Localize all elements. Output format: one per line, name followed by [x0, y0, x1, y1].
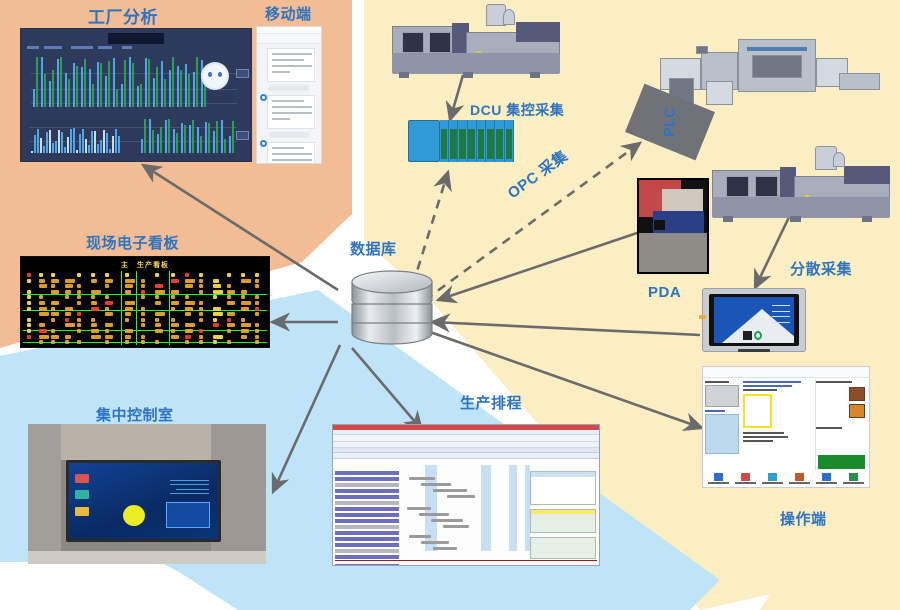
- mobile-divider-pill: [269, 132, 309, 138]
- led-cell: [105, 279, 113, 283]
- led-cell: [241, 335, 247, 339]
- led-cell: [105, 340, 109, 344]
- worker-photo: [849, 387, 865, 401]
- led-cell: [65, 284, 73, 288]
- dashboard-legend-top: [236, 69, 249, 78]
- led-cell: [39, 273, 43, 277]
- led-cell: [77, 323, 81, 327]
- led-cell: [51, 279, 59, 283]
- led-cell: [65, 295, 69, 299]
- led-cell: [155, 301, 161, 305]
- assembly-line[interactable]: [655, 28, 885, 108]
- led-cell: [171, 323, 179, 327]
- injection-machine-top[interactable]: [392, 8, 560, 78]
- dcu-cpu-module: [408, 120, 440, 162]
- led-cell: [185, 335, 191, 339]
- led-cell: [65, 318, 69, 322]
- led-cell: [105, 295, 109, 299]
- led-cell: [227, 295, 231, 299]
- led-cell: [91, 335, 101, 339]
- led-cell: [213, 312, 223, 316]
- mobile-avatar: [260, 140, 267, 147]
- led-cell: [51, 312, 59, 316]
- led-cell: [213, 340, 217, 344]
- led-cell: [51, 307, 55, 311]
- led-cell: [125, 340, 129, 344]
- led-cell: [155, 318, 159, 322]
- kpi-card-yellow: [75, 507, 89, 516]
- led-cell: [125, 273, 129, 277]
- mobile-divider-pill: [269, 85, 309, 91]
- led-cell: [155, 312, 165, 316]
- led-cell: [213, 323, 219, 327]
- led-cell: [27, 329, 31, 333]
- pda-photo[interactable]: [637, 178, 709, 274]
- gantt-right-notes[interactable]: [530, 537, 596, 559]
- worker-photo: [849, 404, 865, 418]
- led-cell: [65, 290, 71, 294]
- led-cell: [91, 301, 97, 305]
- led-cell: [105, 312, 113, 316]
- action-button: [840, 472, 867, 486]
- mobile-nav-bar: [257, 34, 321, 44]
- led-cell: [51, 329, 55, 333]
- led-cell: [51, 290, 59, 294]
- led-cell: [91, 290, 101, 294]
- led-cell: [227, 318, 231, 322]
- led-cell: [125, 307, 133, 311]
- led-cell: [141, 279, 145, 283]
- led-cell: [65, 335, 71, 339]
- led-board-title: 主 生产看板: [121, 260, 169, 270]
- led-cell: [185, 301, 195, 305]
- led-cell: [91, 329, 99, 333]
- led-cell: [241, 279, 251, 283]
- led-cell: [255, 335, 259, 339]
- action-button: [813, 472, 840, 486]
- led-cell: [199, 312, 203, 316]
- led-cell: [91, 307, 99, 311]
- mobile-message-card: [267, 142, 315, 164]
- led-cell: [65, 312, 71, 316]
- tablet-screen: [709, 294, 799, 346]
- led-cell: [77, 340, 81, 344]
- led-cell: [255, 323, 259, 327]
- led-cell: [91, 295, 95, 299]
- led-cell: [255, 279, 259, 283]
- led-cell: [185, 273, 189, 277]
- gantt-highlight-row: [531, 510, 595, 514]
- factory-floor: [639, 233, 707, 272]
- led-cell: [255, 295, 259, 299]
- label-led-board: 现场电子看板: [86, 232, 179, 253]
- led-cell: [27, 273, 31, 277]
- led-cell: [141, 340, 145, 344]
- led-cell: [51, 318, 55, 322]
- led-cell: [125, 335, 131, 339]
- led-cell: [141, 312, 145, 316]
- label-mobile-terminal: 移动端: [265, 3, 312, 24]
- action-button: [759, 472, 786, 486]
- kpi-card-red: [75, 474, 89, 483]
- diagram-canvas: 工厂分析 移动端: [0, 0, 900, 610]
- scheduling-gantt[interactable]: [332, 424, 600, 566]
- led-cell: [213, 335, 223, 339]
- led-cell: [227, 284, 231, 288]
- dashboard-mascot-icon: [203, 64, 227, 88]
- led-cell: [171, 318, 175, 322]
- led-cell: [27, 318, 31, 322]
- industrial-tablet[interactable]: [702, 288, 806, 352]
- led-cell: [213, 295, 217, 299]
- led-cell: [105, 307, 109, 311]
- led-cell: [77, 284, 81, 288]
- led-cell: [199, 329, 203, 333]
- dcu-io-modules: [440, 120, 514, 162]
- led-cell: [39, 279, 45, 283]
- led-cell: [77, 329, 81, 333]
- led-cell: [241, 301, 251, 305]
- led-cell: [91, 323, 97, 327]
- led-cell: [227, 329, 231, 333]
- factory-analysis-dashboard[interactable]: [20, 28, 252, 162]
- operator-action-bar[interactable]: [705, 472, 867, 486]
- led-cell: [77, 301, 81, 305]
- operator-main-form[interactable]: [743, 379, 811, 471]
- dashboard-chart-bottom-left: [31, 119, 127, 153]
- led-cell: [91, 273, 95, 277]
- led-cell: [213, 279, 219, 283]
- led-cell: [125, 329, 133, 333]
- led-cell: [27, 279, 31, 283]
- database-cylinder[interactable]: [348, 265, 436, 349]
- led-cell: [213, 318, 217, 322]
- dashboard-legend-bottom: [236, 131, 249, 140]
- led-cell: [141, 335, 145, 339]
- led-cell: [171, 301, 179, 305]
- antenna: [699, 315, 706, 319]
- data-panel: [166, 502, 211, 528]
- led-cell: [185, 284, 193, 288]
- led-cell: [185, 329, 193, 333]
- mobile-app-screenshot[interactable]: [256, 26, 322, 164]
- led-cell: [27, 295, 31, 299]
- led-cell: [105, 329, 109, 333]
- led-cell: [51, 340, 55, 344]
- led-cell: [213, 307, 221, 311]
- led-cell: [141, 323, 145, 327]
- led-cell: [199, 279, 203, 283]
- led-cell: [199, 335, 203, 339]
- led-cell: [199, 318, 203, 322]
- led-cell: [51, 301, 59, 305]
- operator-terminal-screenshot[interactable]: [702, 366, 870, 488]
- led-cell: [155, 273, 159, 277]
- led-cell: [255, 312, 259, 316]
- confirm-button[interactable]: [818, 455, 865, 469]
- led-cell: [27, 301, 31, 305]
- led-cell: [171, 295, 175, 299]
- highlighted-field[interactable]: [743, 394, 772, 428]
- product-thumbnail: [705, 385, 739, 407]
- led-cell: [91, 279, 97, 283]
- led-cell: [241, 323, 251, 327]
- mobile-status-bar: [257, 27, 321, 34]
- led-billboard[interactable]: 主 生产看板: [20, 256, 270, 348]
- led-cell: [39, 323, 45, 327]
- led-cell: [241, 318, 245, 322]
- led-cell: [155, 290, 165, 294]
- led-cell: [155, 329, 163, 333]
- label-operator-terminal: 操作端: [780, 508, 827, 529]
- led-cell: [77, 312, 81, 316]
- led-cell: [141, 295, 145, 299]
- label-distributed-collect: 分散采集: [790, 258, 852, 279]
- mobile-avatar: [260, 94, 267, 101]
- pda-handheld-device: [654, 220, 665, 229]
- action-button: [732, 472, 759, 486]
- brand-logo-icon: [754, 331, 762, 340]
- led-cell: [105, 335, 113, 339]
- led-cell: [155, 323, 161, 327]
- led-cell: [171, 273, 175, 277]
- led-cell: [199, 340, 203, 344]
- led-cell: [155, 284, 163, 288]
- floor: [28, 551, 266, 564]
- led-cell: [65, 340, 69, 344]
- gantt-status-bar: [335, 560, 597, 564]
- label-production-schedule: 生产排程: [460, 392, 522, 413]
- led-cell: [91, 318, 95, 322]
- label-factory-analysis: 工厂分析: [88, 3, 158, 28]
- led-cell: [65, 279, 75, 283]
- led-cell: [171, 335, 179, 339]
- operator-right-column: [815, 379, 867, 471]
- led-cell: [185, 279, 195, 283]
- label-pda: PDA: [648, 284, 681, 301]
- led-cell: [125, 290, 131, 294]
- led-cell: [77, 295, 81, 299]
- led-cell: [213, 284, 221, 288]
- left-wall: [28, 424, 61, 564]
- led-cell: [227, 312, 235, 316]
- control-room-photo[interactable]: [28, 424, 266, 564]
- led-cell: [227, 340, 231, 344]
- led-cell: [141, 318, 145, 322]
- led-cell: [199, 290, 203, 294]
- led-cell: [255, 340, 259, 344]
- operator-left-column: [705, 379, 739, 471]
- led-cell: [199, 307, 203, 311]
- led-cell: [185, 295, 189, 299]
- led-cell: [141, 307, 145, 311]
- led-cell: [171, 279, 179, 283]
- label-database: 数据库: [350, 238, 397, 259]
- dashboard-filter-row: [27, 46, 241, 50]
- led-cell: [241, 307, 249, 311]
- led-cell: [27, 323, 31, 327]
- led-cell: [77, 290, 81, 294]
- label-control-room: 集中控制室: [96, 404, 174, 425]
- led-cell: [255, 329, 259, 333]
- led-cell: [77, 273, 81, 277]
- led-cell: [241, 273, 245, 277]
- led-cell: [39, 307, 47, 311]
- led-cell: [125, 301, 135, 305]
- led-cell: [105, 273, 109, 277]
- led-cell: [141, 284, 145, 288]
- video-wall: [66, 460, 221, 541]
- led-cell: [241, 295, 245, 299]
- led-cell: [241, 290, 247, 294]
- led-cell: [255, 301, 259, 305]
- operator-header: [703, 367, 869, 378]
- gantt-right-grid[interactable]: [530, 471, 596, 505]
- led-cell: [125, 318, 129, 322]
- plc-label: PLC: [661, 107, 679, 138]
- led-cell: [39, 312, 49, 316]
- label-dcu-collect: DCU 集控采集: [470, 100, 564, 120]
- led-cell: [39, 335, 49, 339]
- led-cell: [27, 335, 31, 339]
- led-cell: [105, 301, 113, 305]
- led-cell: [125, 312, 131, 316]
- tablet-foot: [738, 349, 771, 352]
- led-cell: [155, 340, 159, 344]
- gantt-task-list[interactable]: [335, 471, 399, 566]
- injection-machine-right[interactable]: [712, 152, 890, 222]
- led-cell: [77, 318, 81, 322]
- action-button: [786, 472, 813, 486]
- led-cell: [171, 290, 179, 294]
- led-cell: [185, 340, 189, 344]
- led-cell: [241, 329, 249, 333]
- led-cell: [105, 323, 113, 327]
- led-cell: [65, 323, 75, 327]
- led-cell: [27, 290, 31, 294]
- mobile-message-card: [267, 48, 315, 82]
- dashboard-chart-bottom-right: [141, 117, 237, 153]
- led-cell: [105, 284, 109, 288]
- led-cell: [227, 290, 235, 294]
- led-cell: [125, 279, 135, 283]
- led-cell: [27, 307, 31, 311]
- led-cell: [155, 295, 159, 299]
- led-cell: [39, 329, 47, 333]
- led-cell: [185, 323, 195, 327]
- led-cell: [141, 290, 145, 294]
- led-cell: [213, 290, 223, 294]
- led-cell: [185, 307, 193, 311]
- action-button: [705, 472, 732, 486]
- dashboard-title-plate: [108, 33, 164, 44]
- led-cell: [65, 307, 73, 311]
- led-cell: [227, 273, 231, 277]
- mobile-message-card: [267, 95, 315, 129]
- led-cell: [227, 323, 235, 327]
- gantt-toolbar[interactable]: [333, 435, 599, 442]
- qr-code-icon: [743, 331, 752, 340]
- led-cell: [199, 301, 203, 305]
- led-cell: [39, 301, 45, 305]
- led-cell: [39, 284, 47, 288]
- led-cell: [39, 340, 43, 344]
- led-cell: [255, 284, 259, 288]
- led-cell: [199, 284, 203, 288]
- gantt-right-detail[interactable]: [530, 509, 596, 533]
- pie-chart: [123, 505, 145, 526]
- led-cell: [171, 329, 175, 333]
- led-cell: [51, 284, 55, 288]
- led-cell: [51, 273, 55, 277]
- led-cell: [171, 307, 175, 311]
- led-cell: [185, 312, 191, 316]
- gantt-bars-area[interactable]: [403, 473, 543, 557]
- led-cell: [125, 284, 133, 288]
- led-cell: [255, 307, 259, 311]
- led-cell: [255, 273, 259, 277]
- kpi-card-teal: [75, 490, 89, 499]
- led-cell: [199, 273, 203, 277]
- led-cell: [227, 301, 235, 305]
- led-cell: [51, 335, 59, 339]
- info-panel: [705, 414, 739, 454]
- dcu-device[interactable]: [408, 120, 514, 162]
- led-cell: [39, 295, 43, 299]
